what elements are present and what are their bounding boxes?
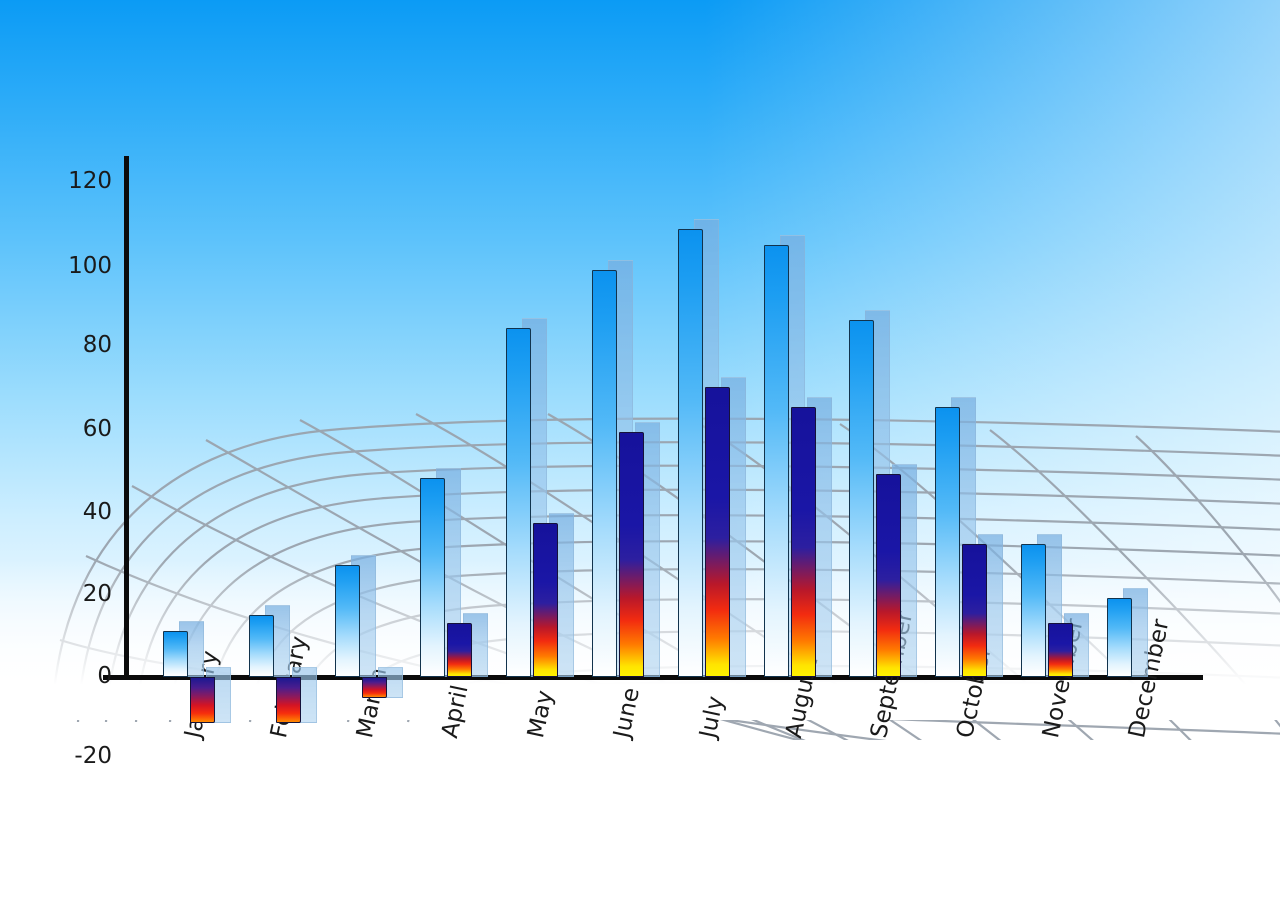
x-tick-may: May <box>523 688 558 741</box>
bar-series2-march[interactable] <box>362 677 387 698</box>
bar-series1-march[interactable] <box>335 565 360 677</box>
bar-series2-august[interactable] <box>791 407 816 677</box>
bar-series1-august[interactable] <box>764 245 789 677</box>
bar-series1-october[interactable] <box>935 407 960 677</box>
bar-series2-february[interactable] <box>276 677 301 723</box>
bar-series1-may[interactable] <box>506 328 531 677</box>
bar-series1-december[interactable] <box>1107 598 1132 677</box>
bar-series1-july[interactable] <box>678 229 703 677</box>
bar-series2-june[interactable] <box>619 432 644 677</box>
bar-series2-september[interactable] <box>876 474 901 677</box>
bar-series1-june[interactable] <box>592 270 617 677</box>
bar-series1-january[interactable] <box>163 631 188 677</box>
bar-series1-february[interactable] <box>249 615 274 677</box>
x-tick-july: July <box>695 694 729 741</box>
plot-area: 120 100 80 60 40 20 0 -20 JanuaryFebruar… <box>0 0 1280 905</box>
bar-series2-july[interactable] <box>705 387 730 678</box>
bar-series1-november[interactable] <box>1021 544 1046 677</box>
bar-series2-may[interactable] <box>533 523 558 677</box>
bar-series2-january[interactable] <box>190 677 215 723</box>
bar-series1-april[interactable] <box>420 478 445 677</box>
bar-series1-september[interactable] <box>849 320 874 677</box>
x-tick-april: April <box>437 683 474 741</box>
bar-series2-april[interactable] <box>447 623 472 677</box>
bar-series2-october[interactable] <box>962 544 987 677</box>
bar-series2-november[interactable] <box>1048 623 1073 677</box>
chart-canvas: 120 100 80 60 40 20 0 -20 JanuaryFebruar… <box>0 0 1280 905</box>
x-tick-june: June <box>609 685 645 740</box>
